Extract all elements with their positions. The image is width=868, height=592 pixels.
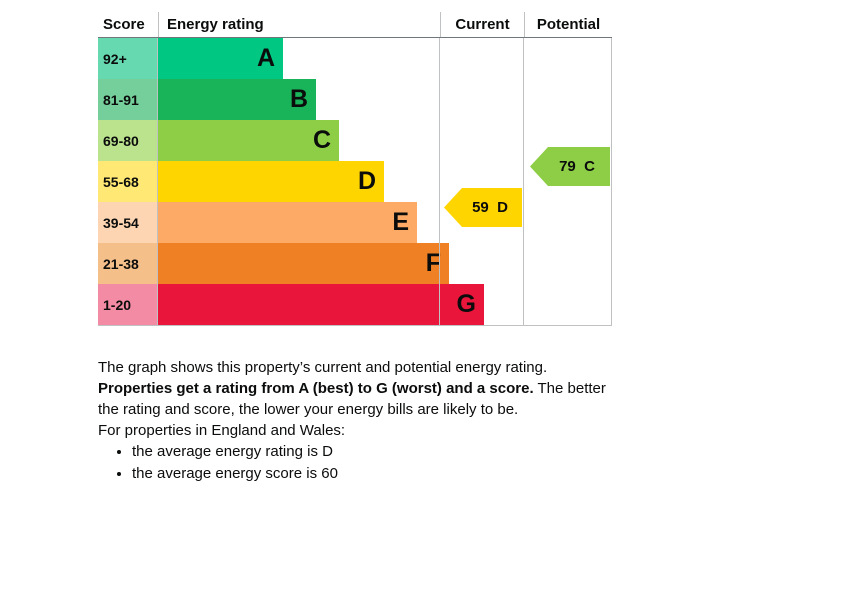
header-score: Score <box>98 12 158 37</box>
band-letter-b: B <box>290 87 308 112</box>
band-bar-b: B <box>158 79 316 120</box>
band-letter-g: G <box>457 292 476 317</box>
band-score-c: 69-80 <box>98 120 158 161</box>
band-letter-e: E <box>392 210 409 235</box>
header-current: Current <box>440 12 524 37</box>
column-divider-current <box>439 38 440 325</box>
band-row: 81-91 B <box>98 79 612 120</box>
epc-band-area: 92+ A 81-91 B 69-80 C 55-68 D 39-54 <box>98 38 612 326</box>
header-potential: Potential <box>524 12 612 37</box>
averages-list: the average energy rating is D the avera… <box>98 441 618 485</box>
band-letter-c: C <box>313 128 331 153</box>
band-bar-f: F <box>158 243 449 284</box>
band-row: 92+ A <box>98 38 612 79</box>
current-rating-label: 59 D <box>458 199 508 216</box>
band-score-b: 81-91 <box>98 79 158 120</box>
band-bar-g: G <box>158 284 484 325</box>
band-letter-d: D <box>358 169 376 194</box>
epc-table-header: Score Energy rating Current Potential <box>98 12 612 38</box>
band-bar-d: D <box>158 161 384 202</box>
intro-paragraph: The graph shows this property’s current … <box>98 357 618 378</box>
band-score-d: 55-68 <box>98 161 158 202</box>
band-score-g: 1-20 <box>98 284 158 325</box>
band-row: 21-38 F <box>98 243 612 284</box>
region-paragraph: For properties in England and Wales: <box>98 420 618 441</box>
ratings-paragraph: Properties get a rating from A (best) to… <box>98 378 618 420</box>
band-row: 39-54 E <box>98 202 612 243</box>
column-divider-score <box>157 38 158 325</box>
band-bar-c: C <box>158 120 339 161</box>
epc-graph: Score Energy rating Current Potential 92… <box>98 12 612 326</box>
band-score-e: 39-54 <box>98 202 158 243</box>
band-row: 69-80 C <box>98 120 612 161</box>
table-right-edge <box>611 38 612 325</box>
header-energy-rating: Energy rating <box>158 12 440 37</box>
column-divider-potential <box>523 38 524 325</box>
potential-rating-label: 79 C <box>545 158 595 175</box>
list-item: the average energy score is 60 <box>132 463 618 485</box>
list-item: the average energy rating is D <box>132 441 618 463</box>
band-row: 1-20 G <box>98 284 612 325</box>
band-bar-a: A <box>158 38 283 79</box>
band-score-f: 21-38 <box>98 243 158 284</box>
band-letter-a: A <box>257 46 275 71</box>
ratings-bold-text: Properties get a rating from A (best) to… <box>98 380 534 397</box>
explanatory-copy: The graph shows this property’s current … <box>98 357 618 485</box>
band-score-a: 92+ <box>98 38 158 79</box>
band-bar-e: E <box>158 202 417 243</box>
